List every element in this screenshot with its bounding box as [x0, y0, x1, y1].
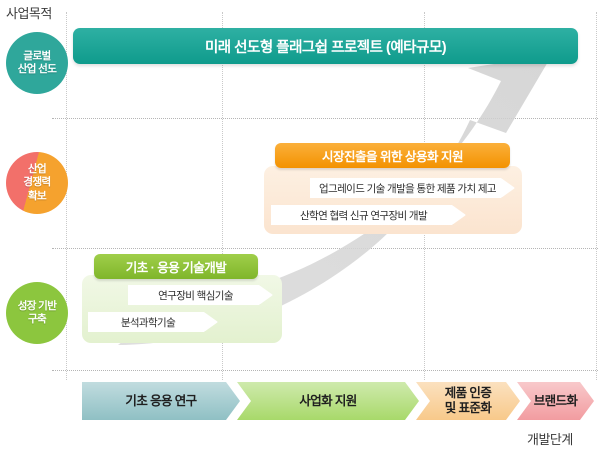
group-header-commercialization[interactable]: 시장진출을 위한 상용화 지원 — [275, 143, 510, 168]
group-item-commercialization-0[interactable]: 업그레이드 기술 개발을 통한 제품 가치 제고 — [310, 178, 515, 198]
goal-circle-global-leadership[interactable]: 글로벌 산업 선도 — [6, 32, 68, 94]
stage-segment-label: 기초 응용 연구 — [125, 394, 196, 409]
group-item-label: 연구장비 핵심기술 — [158, 288, 243, 303]
gridline-horizontal — [52, 118, 598, 119]
flagship-project-banner[interactable]: 미래 선도형 플래그쉽 프로젝트 (예타규모) — [73, 28, 578, 64]
group-item-commercialization-1[interactable]: 산학연 협력 신규 연구장비 개발 — [271, 205, 466, 225]
gridline-horizontal — [52, 370, 598, 371]
stage-segment-certification-standardization[interactable]: 제품 인증 및 표준화 — [416, 382, 520, 420]
stage-segment-label: 브랜드화 — [534, 394, 578, 409]
diagram-canvas: 사업목적 개발단계 글로벌 산업 선도 산업 경쟁력 확보 성장 기반 구축 미… — [0, 0, 600, 452]
group-header-basic-applied-rnd[interactable]: 기초 · 응용 기술개발 — [94, 254, 258, 279]
gridline-vertical — [596, 12, 597, 380]
stage-segment-basic-applied-research[interactable]: 기초 응용 연구 — [82, 382, 240, 420]
axis-label-stage: 개발단계 — [527, 429, 573, 448]
group-item-label: 분석과학기술 — [121, 315, 185, 330]
stage-segment-commercialization-support[interactable]: 사업화 지원 — [237, 382, 419, 420]
group-item-label: 산학연 협력 신규 연구장비 개발 — [300, 208, 437, 223]
goal-circle-industrial-competitiveness[interactable]: 산업 경쟁력 확보 — [6, 152, 68, 214]
group-item-basic-applied-rnd-0[interactable]: 연구장비 핵심기술 — [128, 285, 273, 305]
stage-segment-branding[interactable]: 브랜드화 — [517, 382, 594, 420]
stage-ribbon: 기초 응용 연구 사업화 지원 제품 인증 및 표준화 브랜드화 — [82, 382, 594, 420]
group-item-basic-applied-rnd-1[interactable]: 분석과학기술 — [88, 312, 218, 332]
axis-label-purpose: 사업목적 — [6, 3, 52, 22]
goal-circle-growth-foundation[interactable]: 성장 기반 구축 — [6, 282, 68, 344]
group-item-label: 업그레이드 기술 개발을 통한 제품 가치 제고 — [319, 181, 506, 196]
gridline-horizontal — [52, 248, 598, 249]
stage-segment-label: 제품 인증 및 표준화 — [445, 386, 491, 416]
stage-segment-label: 사업화 지원 — [299, 394, 356, 409]
